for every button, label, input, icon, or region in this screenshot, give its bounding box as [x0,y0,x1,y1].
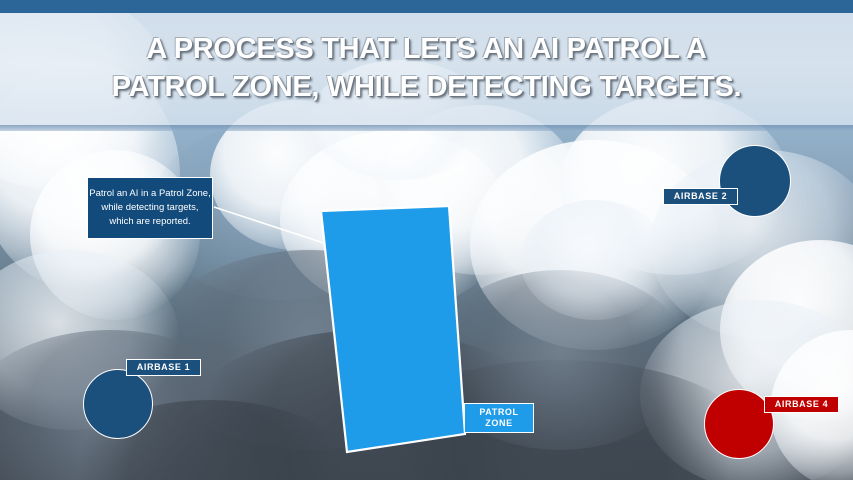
patrol-zone-polygon [321,206,465,452]
airbase-1-label[interactable]: AIRBASE 1 [126,359,201,376]
patrol-zone-label-text: PATROL ZONE [479,407,518,429]
airbase-2-label-text: AIRBASE 2 [674,191,727,202]
airbase-4-label[interactable]: AIRBASE 4 [764,396,839,413]
airbase-2-circle[interactable] [719,145,791,217]
airbase-1-label-text: AIRBASE 1 [137,362,190,373]
slide-canvas: A PROCESS THAT LETS AN AI PATROL A PATRO… [0,0,853,480]
airbase-2-label[interactable]: AIRBASE 2 [663,188,738,205]
patrol-zone-label[interactable]: PATROL ZONE [464,403,534,433]
callout-box[interactable]: Patrol an AI in a Patrol Zone, while det… [87,177,213,239]
callout-text: Patrol an AI in a Patrol Zone, while det… [89,187,210,229]
airbase-4-label-text: AIRBASE 4 [775,399,828,410]
airbase-1-circle[interactable] [83,369,153,439]
